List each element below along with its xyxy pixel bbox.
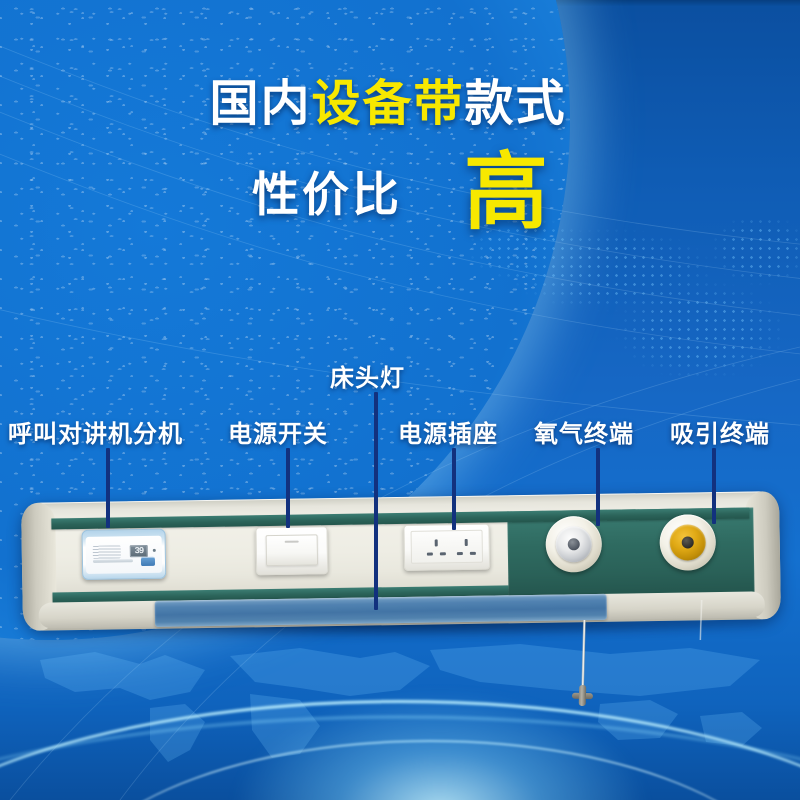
callout-label-suction: 吸引终端 bbox=[670, 414, 770, 449]
leader-line-bedside-lamp bbox=[374, 392, 378, 610]
leader-line-suction bbox=[712, 448, 716, 524]
callout-label-bedside-lamp: 床头灯 bbox=[330, 358, 405, 393]
leader-line-intercom bbox=[106, 448, 110, 528]
poster-stage: 国内设备带款式 性价比 高 呼叫对讲机分机 电源开关 床头灯 电源插座 氧气终端… bbox=[0, 0, 800, 800]
leader-line-oxygen bbox=[596, 448, 600, 526]
callout-layer: 呼叫对讲机分机 电源开关 床头灯 电源插座 氧气终端 吸引终端 bbox=[0, 0, 800, 800]
callout-label-power-switch: 电源开关 bbox=[228, 414, 328, 449]
callout-label-intercom: 呼叫对讲机分机 bbox=[8, 414, 183, 449]
leader-line-power-switch bbox=[286, 448, 290, 528]
callout-label-oxygen: 氧气终端 bbox=[534, 414, 634, 449]
callout-label-power-socket: 电源插座 bbox=[398, 414, 498, 449]
leader-line-power-socket bbox=[452, 448, 456, 530]
